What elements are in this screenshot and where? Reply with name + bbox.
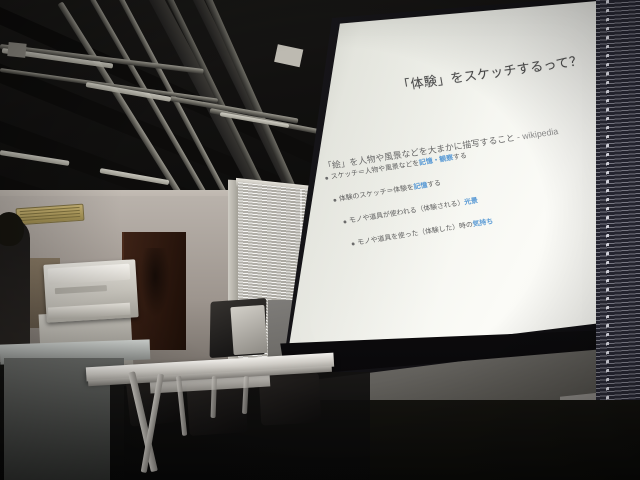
- bullet-dot-icon: [351, 242, 354, 245]
- bullet-text-after: する: [452, 151, 467, 162]
- bullet-text-before: 体験のスケッチ＝体験を: [338, 183, 414, 203]
- person-head: [0, 212, 24, 246]
- door-shadow: [140, 248, 170, 318]
- projected-slide: 「体験」をスケッチするって？ 「絵」を人物や風景などを大まかに描写すること - …: [260, 0, 633, 393]
- office-copier: [43, 259, 138, 323]
- bullet-dot-icon: [333, 198, 336, 201]
- copier-tray: [48, 303, 131, 320]
- copier-lid: [48, 264, 131, 285]
- slide-bullet-list: スケッチ＝人物や風景などを記憶・観察する 体験のスケッチ＝体験を記憶する モノや…: [317, 162, 611, 243]
- copier-paper-slot: [55, 285, 107, 294]
- bullet-highlight: 気持ち: [472, 217, 494, 229]
- seated-person-silhouette: [0, 218, 30, 348]
- bullet-text-before: モノや道具が使われる（体験される）: [348, 198, 465, 225]
- bullet-text-before: モノや道具を使った（体験した）時の: [356, 220, 473, 247]
- photo-scene: 「体験」をスケッチするって？ 「絵」を人物や風景などを大まかに描写すること - …: [0, 0, 640, 480]
- bullet-dot-icon: [343, 220, 346, 223]
- venetian-blinds-right[interactable]: [596, 0, 640, 462]
- monitor-side-panel: [230, 305, 267, 355]
- bullet-text-after: する: [426, 178, 441, 189]
- bullet-dot-icon: [325, 176, 328, 179]
- ceiling-light-box: [7, 42, 26, 58]
- bullet-highlight: 光景: [463, 196, 478, 207]
- blind-ladder-cord: [606, 0, 609, 461]
- slide-title: 「体験」をスケッチするって？: [396, 48, 598, 95]
